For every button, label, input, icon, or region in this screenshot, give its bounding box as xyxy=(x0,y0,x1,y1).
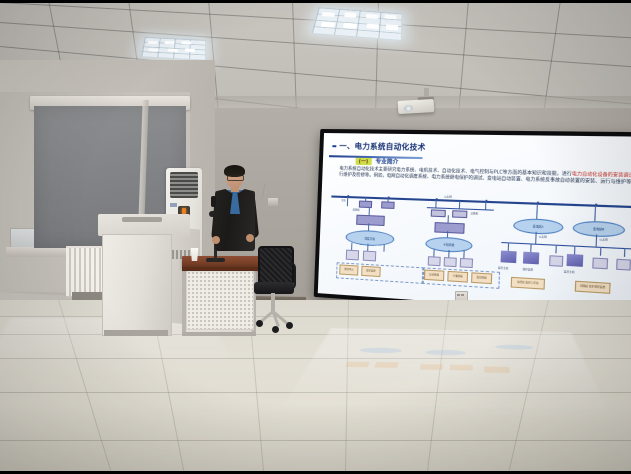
diagram-zone-label-1: 站控层 监控工作站 xyxy=(511,277,545,290)
floor-reflection-slide-detail xyxy=(321,334,575,390)
outlet-slot-left-icon xyxy=(457,294,460,296)
section-title: 专业简介 xyxy=(375,157,398,166)
presenter-hand-left xyxy=(212,236,220,244)
diagram-bus-label: 以太网 xyxy=(444,194,452,198)
handheld-microphone-icon xyxy=(211,196,216,207)
diagram-node-1: 调度主站 xyxy=(345,229,394,247)
glasses-icon xyxy=(227,175,244,181)
diagram-backbone-bus xyxy=(331,195,631,207)
title-dash-icon xyxy=(332,145,336,147)
chair-caster-1 xyxy=(286,322,293,329)
wall-mounted-device xyxy=(268,198,278,206)
diagram-node-3: 变电站A xyxy=(513,218,564,235)
diagram-terminal-1: 测控单元 xyxy=(339,264,358,275)
diagram-terminal-4: 计量终端 xyxy=(447,271,468,283)
network-diagram: 以太网 主站 前置机 调度主站 xyxy=(326,191,631,313)
podium-top-handle[interactable] xyxy=(122,217,162,222)
air-conditioner-label xyxy=(170,203,177,207)
presenter-hand-right xyxy=(246,234,254,242)
air-conditioner-vent-icon xyxy=(170,172,198,198)
slide-title-row: 一、电力系统自动化技术 xyxy=(332,140,631,157)
outlet-slot-right-icon xyxy=(461,294,464,296)
presentation-slide: 一、电力系统自动化技术 (一) 专业简介 电力系统自动化技术主要研究电力系统、电… xyxy=(318,133,631,317)
podium-cabinet[interactable] xyxy=(102,234,172,336)
display-panel: 一、电力系统自动化技术 (一) 专业简介 电力系统自动化技术主要研究电力系统、电… xyxy=(318,133,631,317)
desk-foot-rail xyxy=(182,332,256,336)
office-chair-post xyxy=(271,293,275,311)
diagram-node-4: 变电站B xyxy=(572,220,625,238)
chair-caster-2 xyxy=(256,320,263,327)
chair-caster-3 xyxy=(272,326,279,333)
photo-letterbox-top xyxy=(0,0,631,3)
podium-base xyxy=(104,330,168,336)
led-display-screen[interactable]: 一、电力系统自动化技术 (一) 专业简介 电力系统自动化技术主要研究电力系统、电… xyxy=(314,129,631,322)
diagram-terminal-5: 监控终端 xyxy=(471,272,492,284)
slide-title: 一、电力系统自动化技术 xyxy=(339,140,426,153)
desk-modesty-panel xyxy=(186,270,254,330)
diagram-zone-label-2: 间隔层 保护测控装置 xyxy=(575,281,611,294)
desk-edge xyxy=(182,267,260,271)
section-badge: (一) xyxy=(355,157,371,165)
diagram-terminal-2: 保护装置 xyxy=(361,266,381,277)
diagram-terminal-3: 远动终端 xyxy=(424,269,445,281)
ceiling-light-panel-left xyxy=(140,36,206,60)
classroom-photo-scene: 一、电力系统自动化技术 (一) 专业简介 电力系统自动化技术主要研究电力系统、电… xyxy=(0,0,631,474)
